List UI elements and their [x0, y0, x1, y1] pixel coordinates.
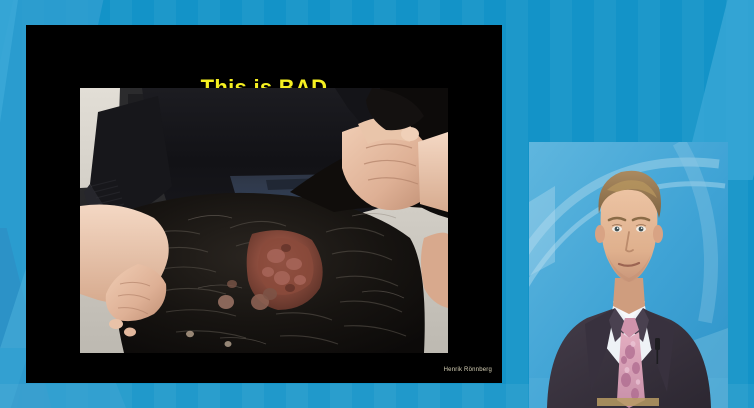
photo-credit: Henrik Rönnberg [444, 367, 492, 373]
slide-panel: This is BAD [26, 25, 502, 383]
presenter-video-overlay[interactable] [529, 142, 728, 408]
presentation-screen: This is BAD [0, 0, 754, 408]
clinical-photo-dog-skin-lesion [80, 88, 448, 353]
